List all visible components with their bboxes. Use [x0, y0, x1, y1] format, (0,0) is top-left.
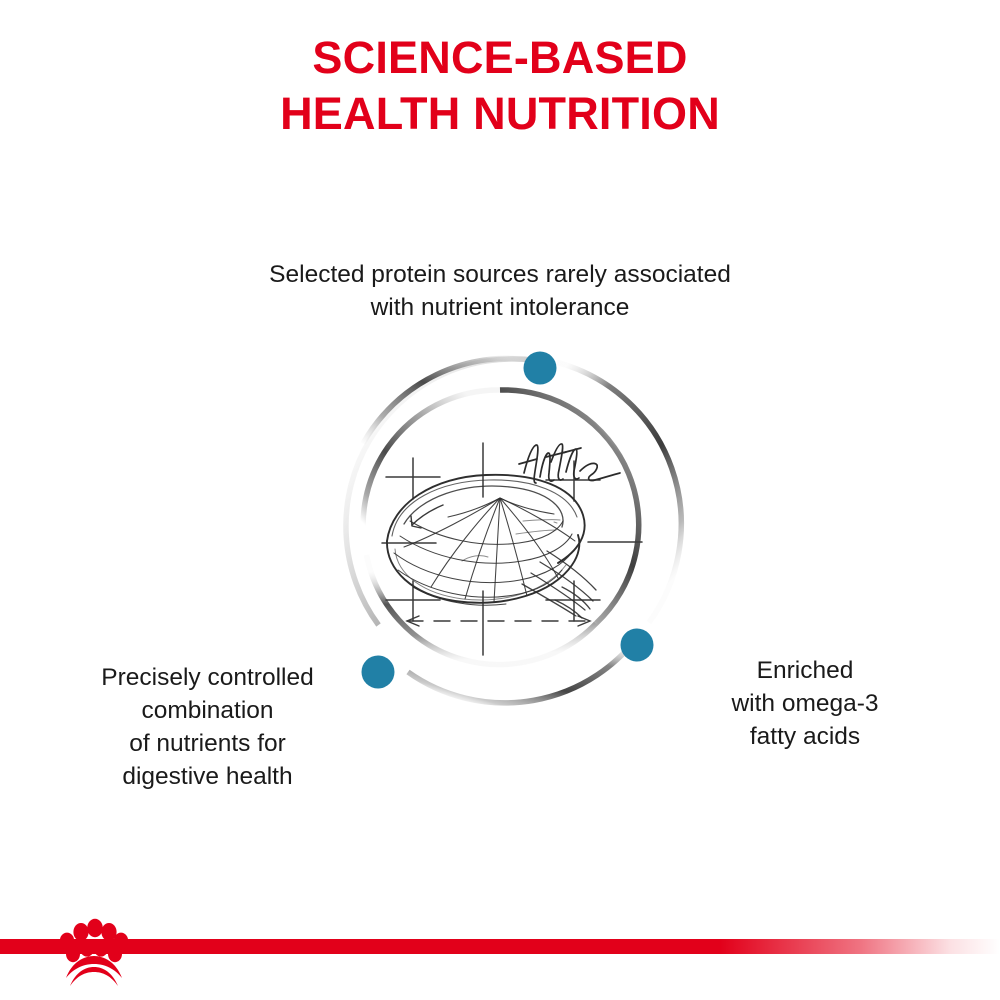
page-title-line-1: SCIENCE-BASED: [0, 30, 1000, 86]
benefit-caption-top: Selected protein sources rarely associat…: [200, 258, 800, 324]
page-title: SCIENCE-BASED HEALTH NUTRITION: [0, 30, 1000, 142]
handwritten-annotation: [519, 444, 620, 483]
benefit-dot-right: [621, 629, 654, 662]
kibble-sketch: [382, 443, 642, 655]
page-title-line-2: HEALTH NUTRITION: [0, 86, 1000, 142]
benefit-caption-right: Enriched with omega-3 fatty acids: [655, 654, 955, 753]
benefit-dot-top: [524, 352, 557, 385]
brand-accent-bar: [0, 939, 1000, 954]
kibble-design-emblem: [300, 325, 700, 725]
royal-canin-crown-logo: [58, 910, 128, 988]
inner-ring-arc: [363, 390, 639, 665]
benefit-dot-left: [362, 656, 395, 689]
